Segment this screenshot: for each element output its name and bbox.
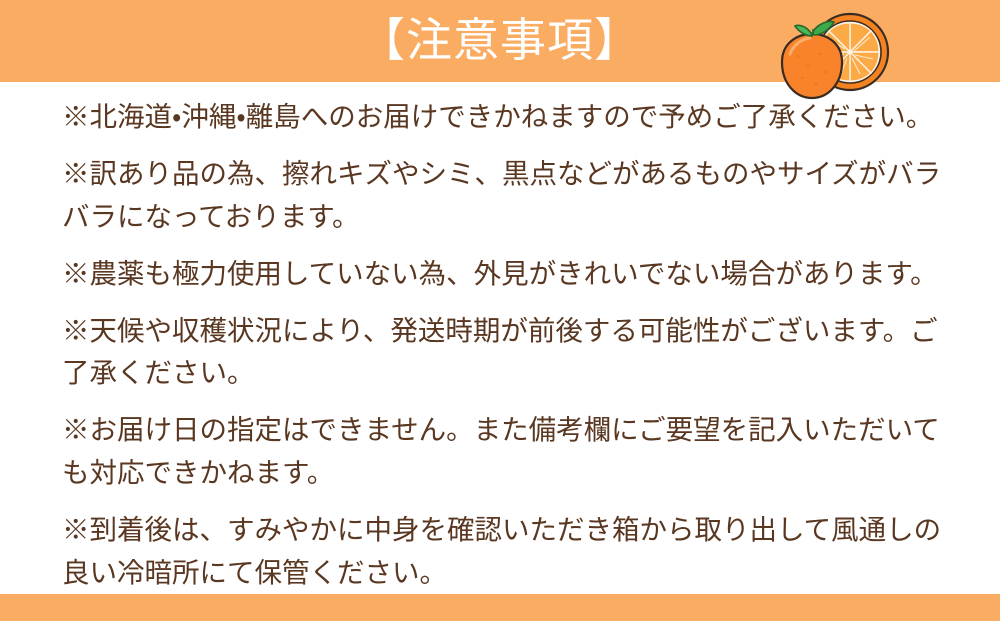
notice-item: ※天候や収穫状況により、発送時期が前後する可能性がございます。ご了承ください。 bbox=[62, 310, 942, 396]
notice-item: ※北海道・沖縄・離島へのお届けできかねますので予めご了承ください。 bbox=[62, 96, 942, 139]
notice-item: ※訳あり品の為、擦れキズやシミ、黒点などがあるものやサイズがバラバラになっており… bbox=[62, 153, 942, 239]
notice-item: ※農薬も極力使用していない為、外見がきれいでない場合があります。 bbox=[62, 253, 942, 296]
notice-item: ※到着後は、すみやかに中身を確認いただき箱から取り出して風通しの良い冷暗所にて保… bbox=[62, 509, 942, 595]
notice-list: ※北海道・沖縄・離島へのお届けできかねますので予めご了承ください。 ※訳あり品の… bbox=[62, 96, 942, 595]
notice-page: 【注意事項】 bbox=[0, 0, 1000, 621]
notice-item: ※お届け日の指定はできません。また備考欄にご要望を記入いただいても対応できかねま… bbox=[62, 409, 942, 495]
footer-band bbox=[0, 594, 1000, 621]
